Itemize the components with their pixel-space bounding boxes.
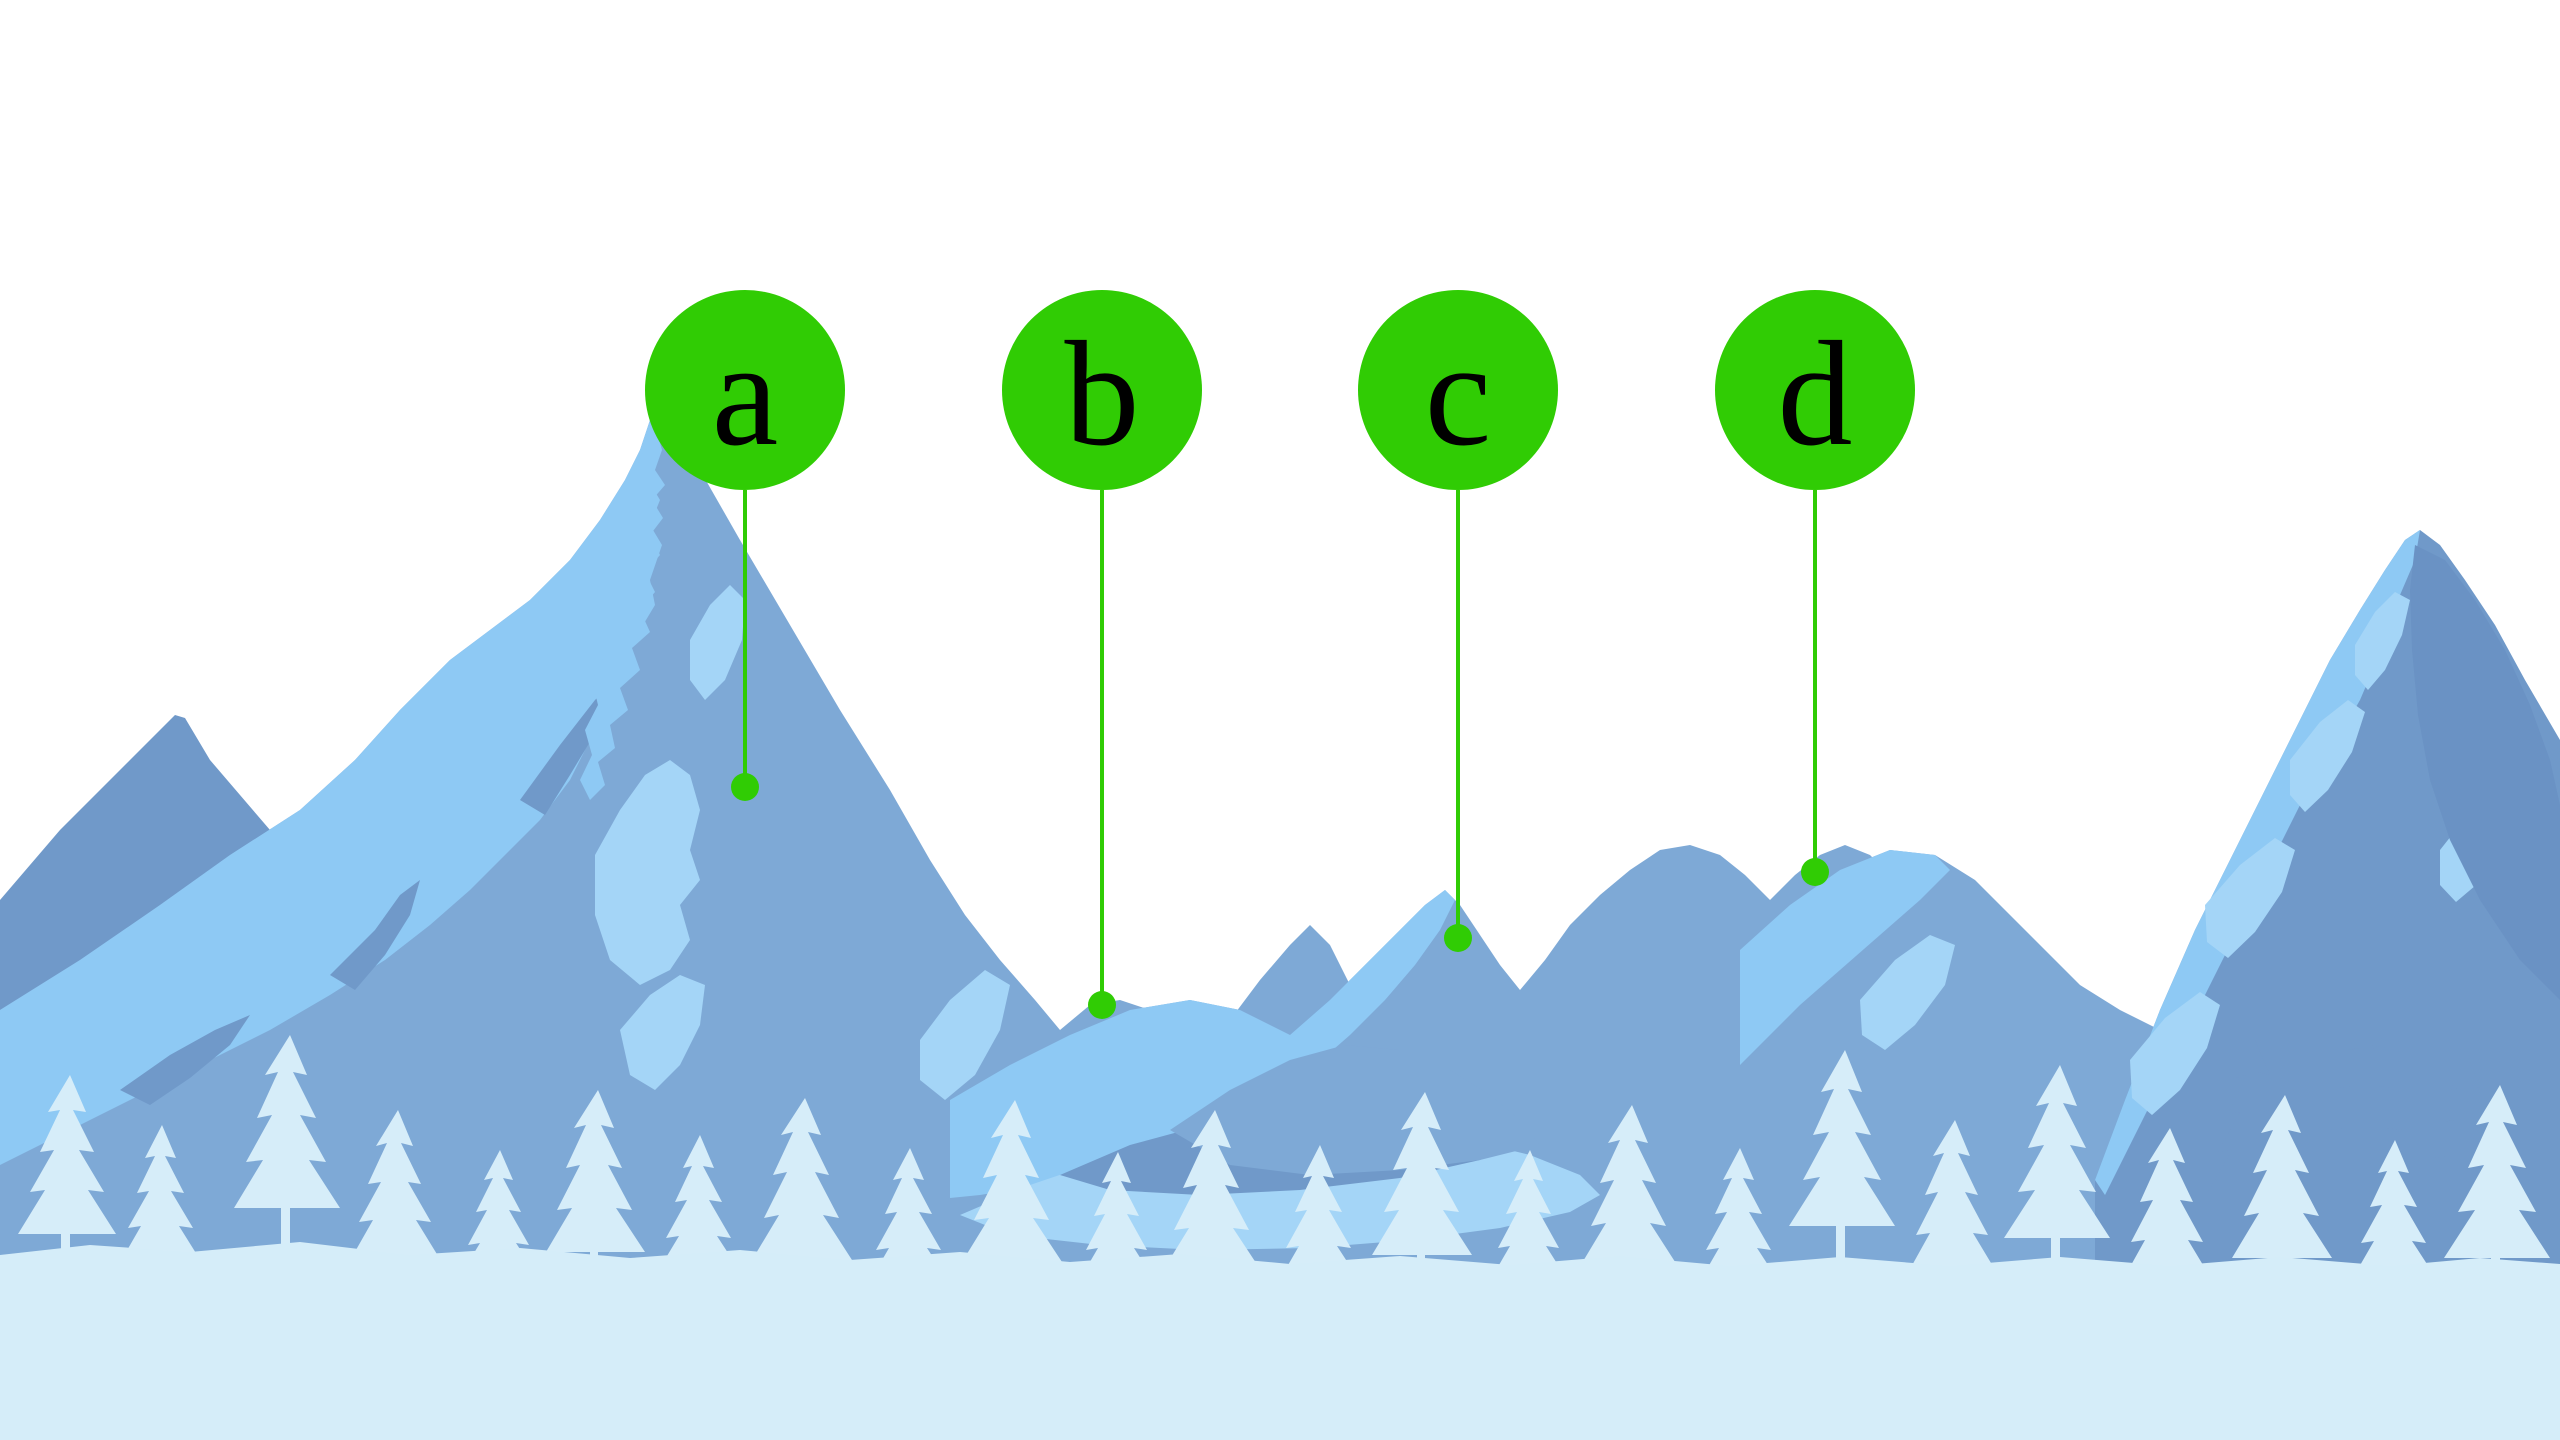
illustration-canvas: abcd xyxy=(0,0,2560,1440)
snow-foreground xyxy=(0,1242,2560,1440)
marker-label-c: c xyxy=(1425,311,1492,477)
marker-label-d: d xyxy=(1778,311,1853,477)
endpoint-dot-d[interactable] xyxy=(1801,858,1829,886)
marker-label-b: b xyxy=(1065,311,1140,477)
endpoint-dot-a[interactable] xyxy=(731,773,759,801)
mountain-landscape-illustration: abcd xyxy=(0,0,2560,1440)
endpoint-dot-c[interactable] xyxy=(1444,924,1472,952)
marker-label-a: a xyxy=(712,311,779,477)
endpoint-dot-b[interactable] xyxy=(1088,991,1116,1019)
